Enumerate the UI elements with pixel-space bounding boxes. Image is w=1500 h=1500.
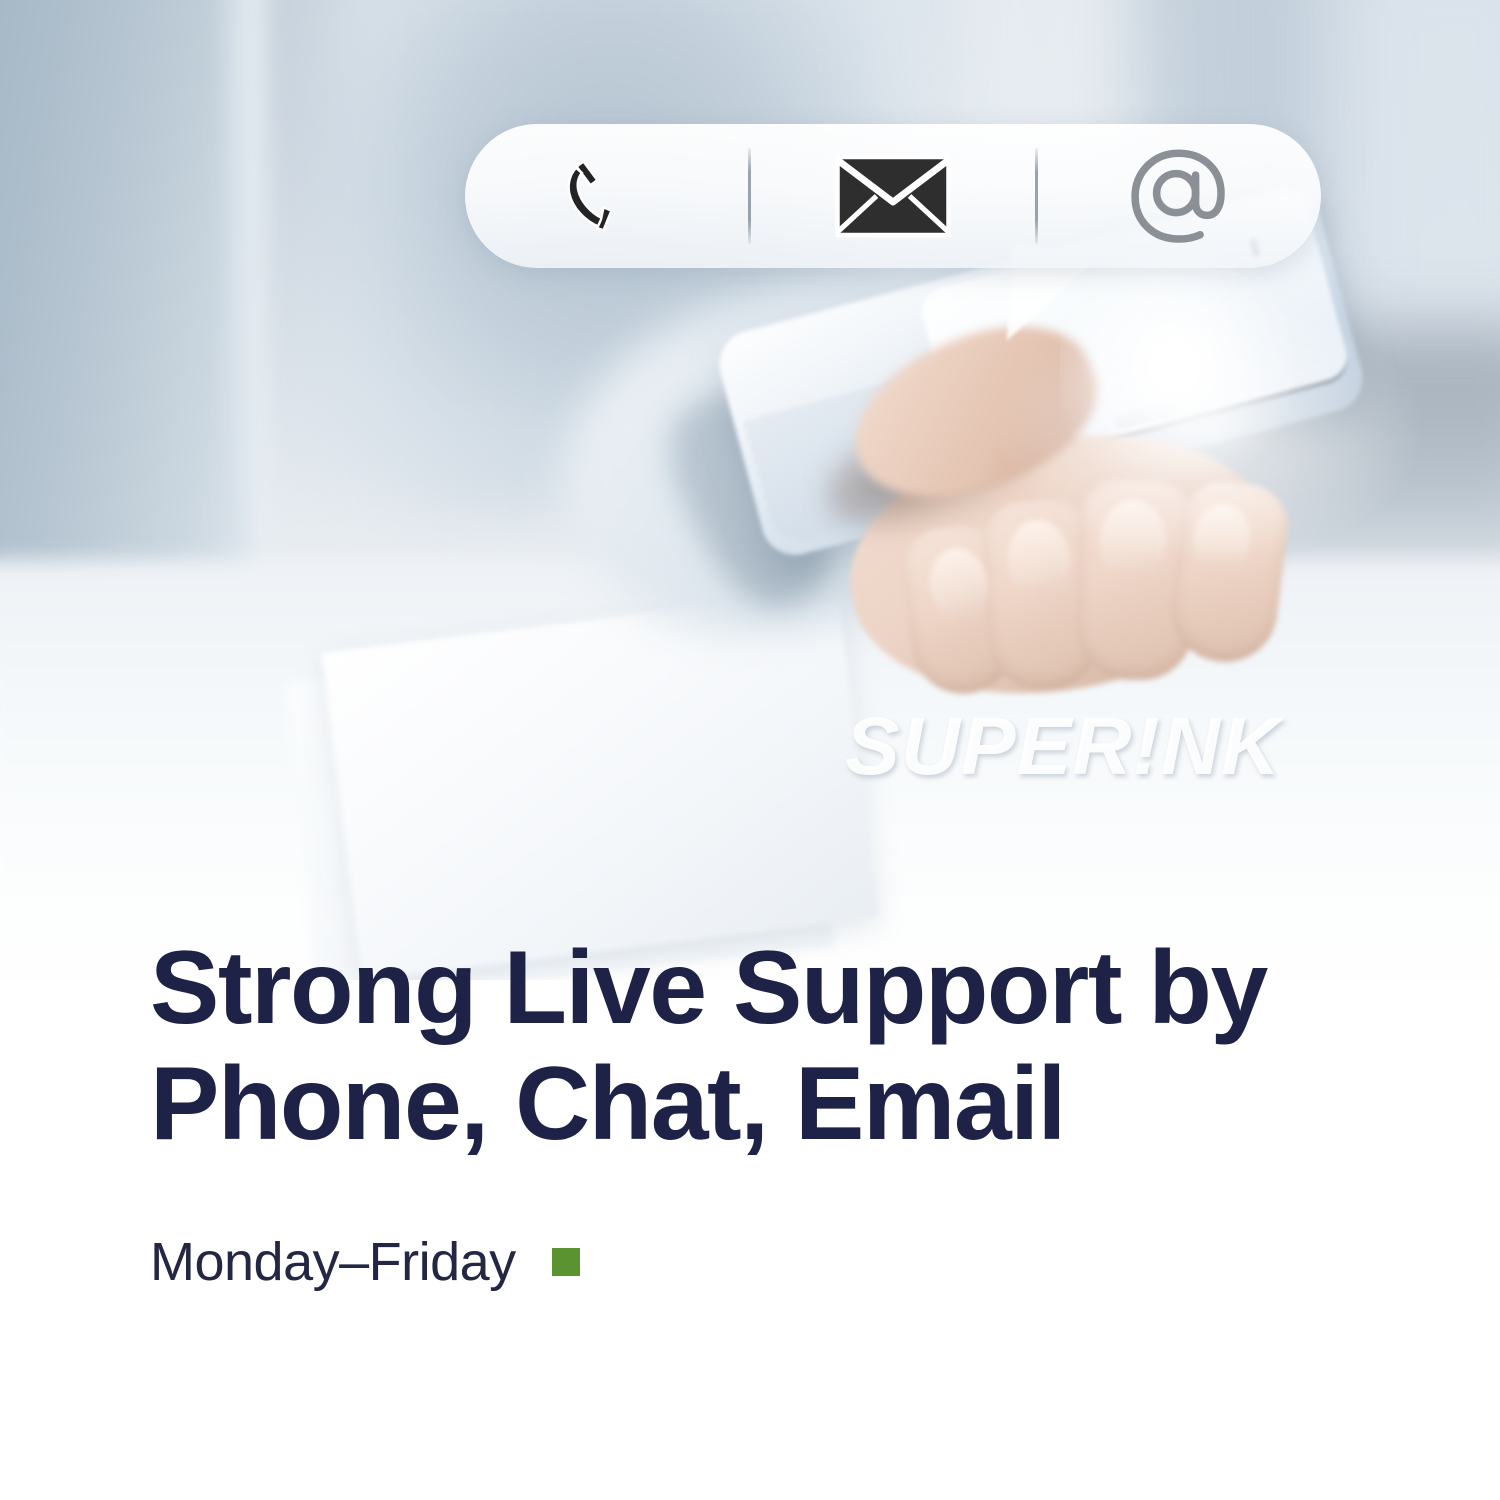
hero-photo: SUPER!NK (0, 0, 1500, 980)
subtitle-row: Monday–Friday (150, 1231, 1350, 1293)
accent-square (552, 1248, 580, 1276)
contact-methods-pill[interactable] (465, 124, 1321, 268)
brand-watermark: SUPER!NK (845, 700, 1281, 794)
envelope-icon (833, 148, 953, 244)
text-content: Strong Live Support by Phone, Chat, Emai… (150, 930, 1350, 1293)
page-title: Strong Live Support by Phone, Chat, Emai… (150, 930, 1290, 1163)
contact-option-email[interactable] (751, 124, 1034, 268)
hand-holding-phone (790, 400, 1310, 700)
at-sign-icon (1124, 144, 1234, 248)
contact-option-phone[interactable] (465, 124, 748, 268)
promo-banner: SUPER!NK Strong Live Support by Phone, C… (0, 0, 1500, 1500)
contact-option-chat[interactable] (1038, 124, 1321, 268)
phone-icon (559, 148, 655, 244)
availability-label: Monday–Friday (150, 1231, 516, 1293)
